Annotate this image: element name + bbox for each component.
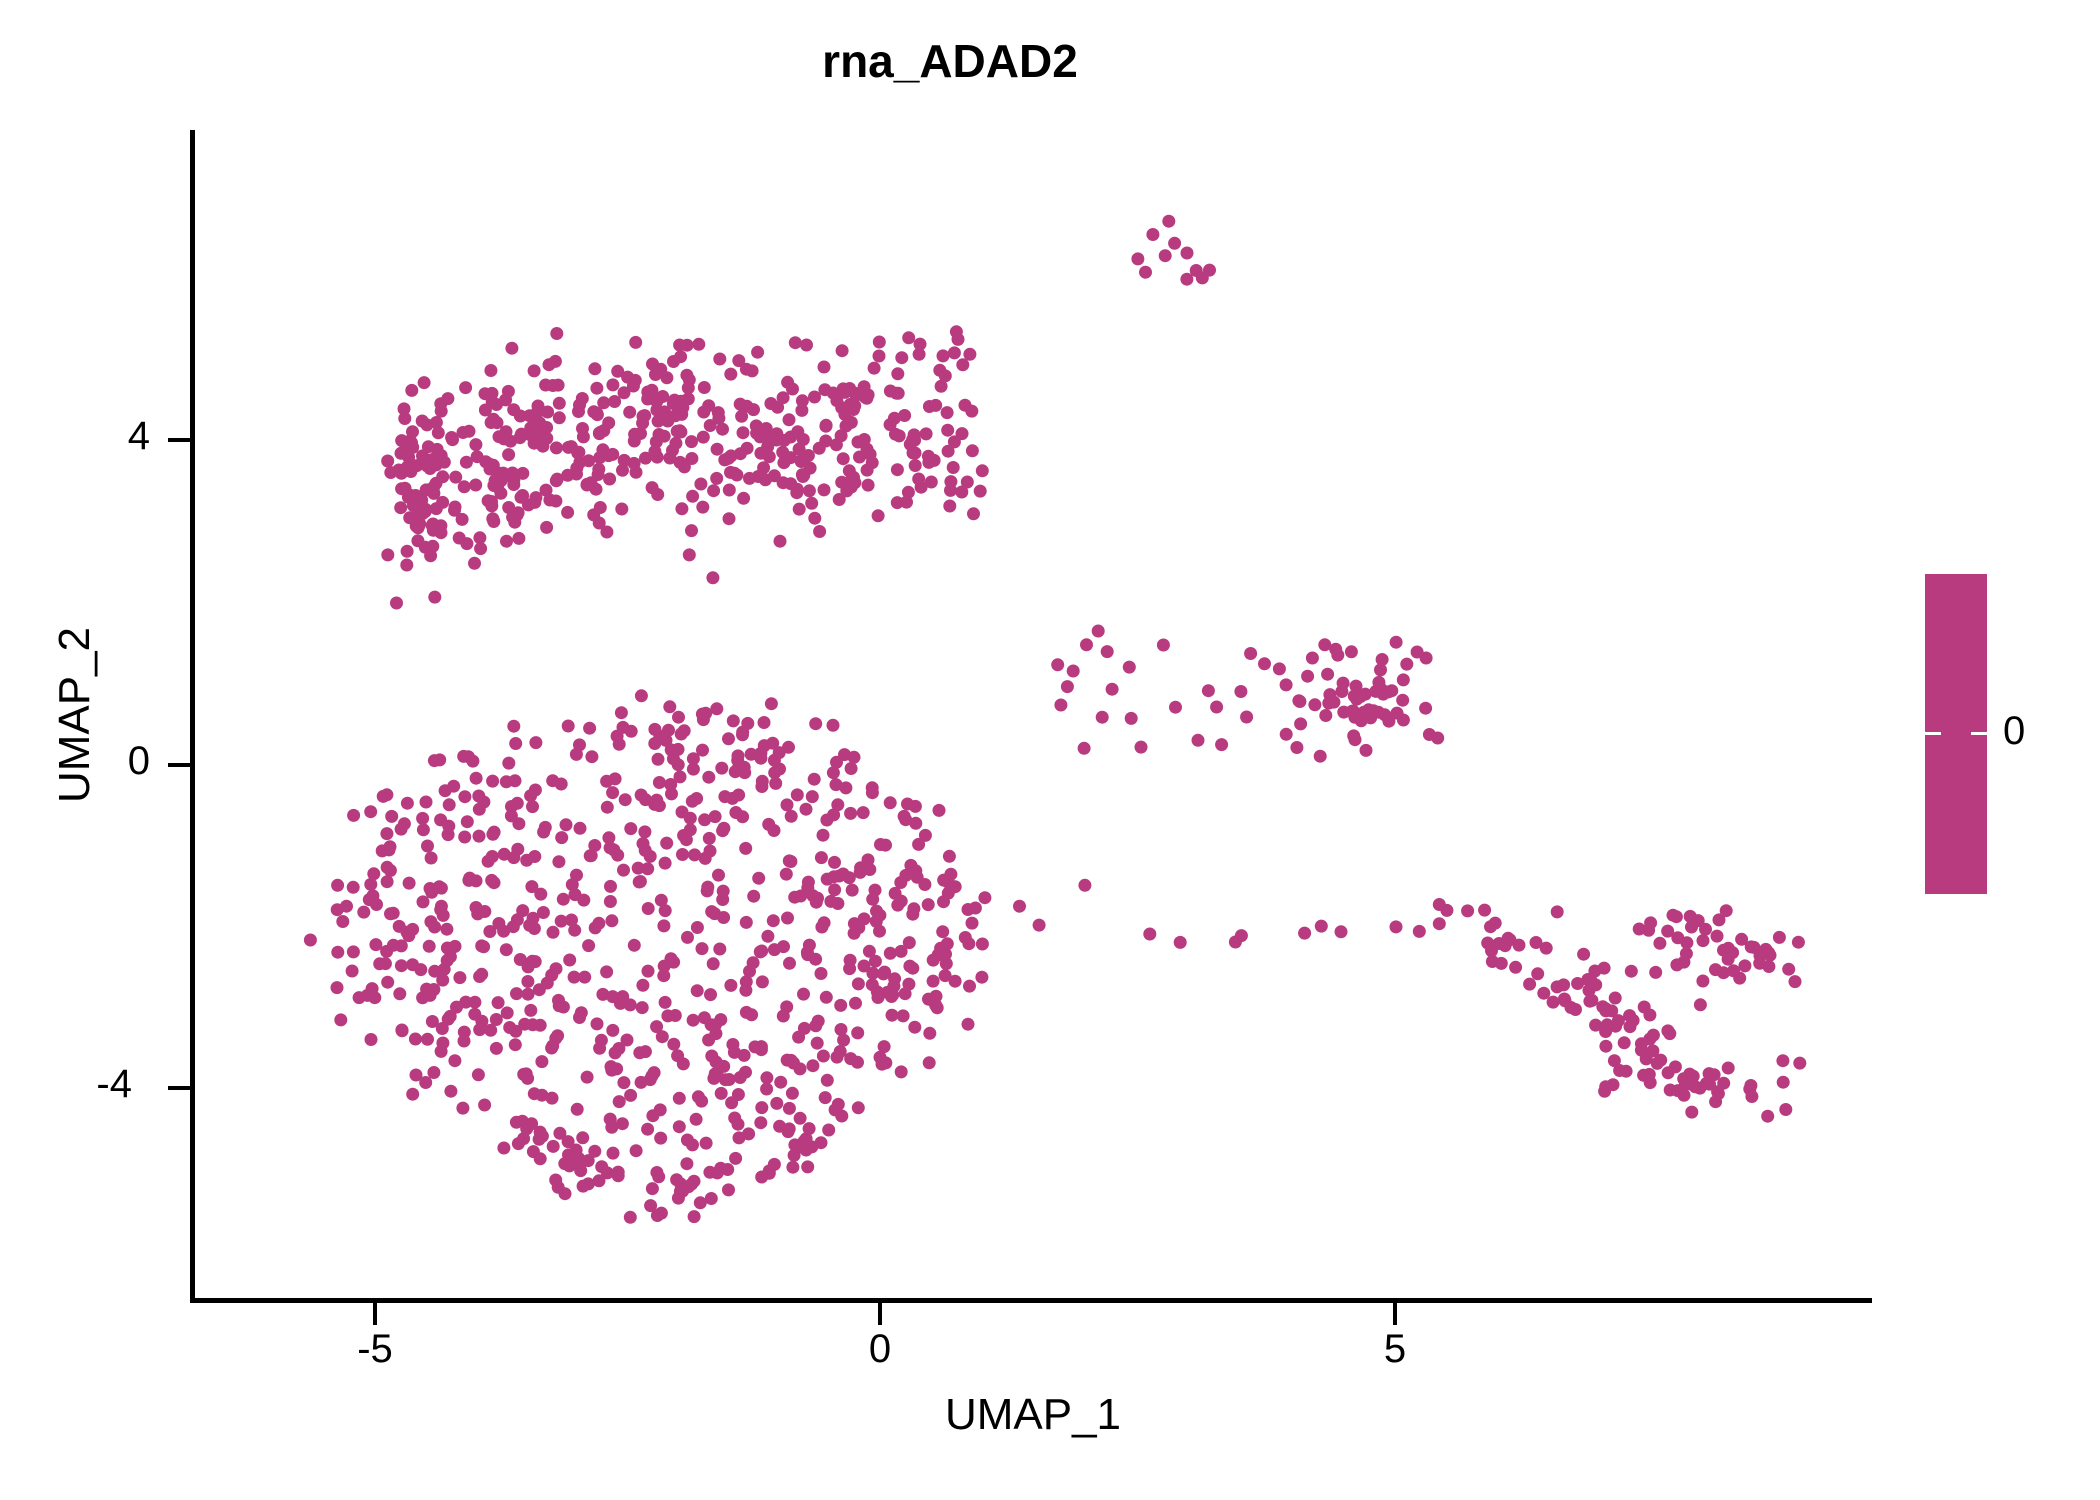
scatter-point bbox=[863, 863, 876, 876]
scatter-point bbox=[604, 880, 617, 893]
scatter-point bbox=[706, 571, 719, 584]
scatter-point bbox=[395, 939, 408, 952]
scatter-point bbox=[756, 775, 769, 788]
scatter-point bbox=[458, 831, 471, 844]
scatter-point bbox=[886, 1009, 899, 1022]
scatter-point bbox=[1321, 668, 1334, 681]
scatter-point bbox=[521, 975, 534, 988]
scatter-point bbox=[517, 1068, 530, 1081]
scatter-point bbox=[515, 428, 528, 441]
scatter-point bbox=[949, 975, 962, 988]
scatter-point bbox=[347, 945, 360, 958]
scatter-point bbox=[1779, 1103, 1792, 1116]
scatter-point bbox=[639, 793, 652, 806]
scatter-point bbox=[524, 789, 537, 802]
scatter-point bbox=[682, 381, 695, 394]
scatter-point bbox=[710, 472, 723, 485]
scatter-point bbox=[510, 987, 523, 1000]
scatter-point bbox=[502, 385, 515, 398]
scatter-point bbox=[895, 1065, 908, 1078]
scatter-point bbox=[412, 521, 425, 534]
scatter-point bbox=[468, 557, 481, 570]
scatter-point bbox=[470, 772, 483, 785]
scatter-point bbox=[780, 868, 793, 881]
scatter-point bbox=[605, 1064, 618, 1077]
scatter-point bbox=[394, 501, 407, 514]
scatter-point bbox=[638, 409, 651, 422]
scatter-point bbox=[600, 526, 613, 539]
scatter-point bbox=[606, 378, 619, 391]
scatter-point bbox=[1486, 955, 1499, 968]
scatter-point bbox=[796, 468, 809, 481]
scatter-point bbox=[702, 771, 715, 784]
scatter-point bbox=[685, 524, 698, 537]
x-tick-mark-5 bbox=[1393, 1303, 1397, 1325]
scatter-point bbox=[593, 451, 606, 464]
scatter-point bbox=[434, 397, 447, 410]
scatter-point bbox=[898, 810, 911, 823]
scatter-point bbox=[783, 413, 796, 426]
scatter-point bbox=[537, 826, 550, 839]
scatter-point bbox=[538, 427, 551, 440]
scatter-point bbox=[1547, 996, 1560, 1009]
scatter-point bbox=[416, 415, 429, 428]
scatter-point bbox=[398, 817, 411, 830]
scatter-point bbox=[596, 988, 609, 1001]
scatter-point bbox=[591, 1017, 604, 1030]
scatter-point bbox=[1240, 711, 1253, 724]
scatter-point bbox=[836, 344, 849, 357]
scatter-point bbox=[829, 1103, 842, 1116]
scatter-point bbox=[487, 479, 500, 492]
scatter-point bbox=[862, 388, 875, 401]
scatter-point bbox=[870, 905, 883, 918]
scatter-point bbox=[645, 1070, 658, 1083]
scatter-point bbox=[663, 700, 676, 713]
scatter-point bbox=[629, 374, 642, 387]
scatter-point bbox=[919, 829, 932, 842]
scatter-point bbox=[1694, 998, 1707, 1011]
scatter-point bbox=[828, 856, 841, 869]
scatter-point bbox=[1661, 1024, 1674, 1037]
scatter-point bbox=[1280, 728, 1293, 741]
scatter-point bbox=[1061, 680, 1074, 693]
scatter-point bbox=[1174, 936, 1187, 949]
scatter-point bbox=[739, 842, 752, 855]
scatter-point bbox=[754, 1116, 767, 1129]
scatter-point bbox=[857, 806, 870, 819]
scatter-point bbox=[787, 1057, 800, 1070]
scatter-point bbox=[895, 895, 908, 908]
scatter-point bbox=[852, 977, 865, 990]
scatter-point bbox=[717, 885, 730, 898]
scatter-point bbox=[684, 823, 697, 836]
scatter-point bbox=[459, 381, 472, 394]
scatter-point bbox=[419, 1076, 432, 1089]
scatter-point bbox=[928, 454, 941, 467]
scatter-point bbox=[366, 889, 379, 902]
scatter-point bbox=[446, 433, 459, 446]
scatter-point bbox=[835, 429, 848, 442]
colorbar-label-0: 0 bbox=[2003, 709, 2025, 754]
scatter-point bbox=[650, 404, 663, 417]
scatter-point bbox=[918, 878, 931, 891]
scatter-point bbox=[818, 361, 831, 374]
scatter-point bbox=[385, 810, 398, 823]
scatter-point bbox=[949, 880, 962, 893]
scatter-point bbox=[633, 1046, 646, 1059]
scatter-point bbox=[685, 452, 698, 465]
scatter-point bbox=[488, 826, 501, 839]
scatter-point bbox=[1703, 1067, 1716, 1080]
scatter-point bbox=[831, 897, 844, 910]
scatter-point bbox=[671, 1049, 684, 1062]
scatter-point bbox=[424, 915, 437, 928]
scatter-point bbox=[522, 960, 535, 973]
scatter-point bbox=[738, 1049, 751, 1062]
scatter-point bbox=[435, 1045, 448, 1058]
x-tick-label-0: 0 bbox=[820, 1327, 940, 1372]
scatter-point bbox=[806, 1059, 819, 1072]
scatter-point bbox=[550, 962, 563, 975]
scatter-point bbox=[754, 447, 767, 460]
scatter-point bbox=[646, 1182, 659, 1195]
scatter-point bbox=[704, 988, 717, 1001]
scatter-point bbox=[948, 346, 961, 359]
scatter-point bbox=[672, 758, 685, 771]
scatter-point bbox=[1642, 924, 1655, 937]
scatter-point bbox=[393, 987, 406, 1000]
scatter-point bbox=[1523, 978, 1536, 991]
scatter-point bbox=[633, 876, 646, 889]
scatter-point bbox=[671, 425, 684, 438]
scatter-point bbox=[1382, 685, 1395, 698]
scatter-point bbox=[732, 354, 745, 367]
scatter-point bbox=[526, 800, 539, 813]
x-tick-label-5: 5 bbox=[1335, 1327, 1455, 1372]
scatter-point bbox=[788, 891, 801, 904]
scatter-point bbox=[1713, 913, 1726, 926]
scatter-point bbox=[763, 1164, 776, 1177]
scatter-point bbox=[862, 479, 875, 492]
scatter-point bbox=[704, 419, 717, 432]
scatter-point bbox=[776, 446, 789, 459]
scatter-point bbox=[621, 1034, 634, 1047]
scatter-point bbox=[700, 1137, 713, 1150]
scatter-point bbox=[962, 937, 975, 950]
scatter-point bbox=[654, 1132, 667, 1145]
scatter-point bbox=[785, 810, 798, 823]
scatter-point bbox=[416, 991, 429, 1004]
scatter-point bbox=[713, 943, 726, 956]
scatter-point bbox=[1738, 959, 1751, 972]
scatter-point bbox=[899, 987, 912, 1000]
scatter-point bbox=[1481, 937, 1494, 950]
scatter-point bbox=[822, 1124, 835, 1137]
scatter-point bbox=[955, 486, 968, 499]
scatter-point bbox=[1502, 932, 1515, 945]
scatter-point bbox=[409, 1033, 422, 1046]
scatter-point bbox=[827, 766, 840, 779]
scatter-point bbox=[1762, 960, 1775, 973]
scatter-point bbox=[357, 906, 370, 919]
scatter-point bbox=[533, 1133, 546, 1146]
scatter-point bbox=[426, 540, 439, 553]
scatter-point bbox=[417, 823, 430, 836]
scatter-point bbox=[509, 737, 522, 750]
scatter-point bbox=[1335, 925, 1348, 938]
scatter-point bbox=[817, 1050, 830, 1063]
scatter-point bbox=[843, 962, 856, 975]
scatter-point bbox=[687, 1014, 700, 1027]
scatter-point bbox=[1433, 917, 1446, 930]
scatter-point bbox=[524, 1004, 537, 1017]
scatter-point bbox=[1792, 936, 1805, 949]
scatter-point bbox=[1202, 684, 1215, 697]
scatter-point bbox=[648, 737, 661, 750]
scatter-point bbox=[798, 1022, 811, 1035]
scatter-point bbox=[809, 717, 822, 730]
scatter-point bbox=[588, 839, 601, 852]
scatter-point bbox=[422, 440, 435, 453]
scatter-point bbox=[909, 800, 922, 813]
scatter-point bbox=[690, 1113, 703, 1126]
scatter-point bbox=[1078, 879, 1091, 892]
scatter-point bbox=[553, 397, 566, 410]
scatter-point bbox=[674, 456, 687, 469]
scatter-point bbox=[697, 431, 710, 444]
scatter-point bbox=[696, 501, 709, 514]
scatter-point bbox=[381, 548, 394, 561]
scatter-point bbox=[943, 500, 956, 513]
scatter-point bbox=[819, 1091, 832, 1104]
scatter-point bbox=[681, 1134, 694, 1147]
scatter-point bbox=[600, 775, 613, 788]
scatter-point bbox=[1315, 920, 1328, 933]
scatter-point bbox=[1696, 975, 1709, 988]
scatter-point bbox=[1589, 1019, 1602, 1032]
scatter-point bbox=[652, 1170, 665, 1183]
y-tick-mark-0 bbox=[168, 763, 190, 767]
scatter-point bbox=[440, 923, 453, 936]
scatter-point bbox=[405, 384, 418, 397]
scatter-point bbox=[1123, 661, 1136, 674]
scatter-point bbox=[630, 466, 643, 479]
scatter-point bbox=[436, 470, 449, 483]
scatter-point bbox=[1096, 711, 1109, 724]
scatter-point bbox=[604, 841, 617, 854]
scatter-point bbox=[852, 1101, 865, 1114]
scatter-point bbox=[419, 505, 432, 518]
scatter-point bbox=[685, 435, 698, 448]
scatter-point bbox=[1484, 920, 1497, 933]
scatter-point bbox=[612, 1169, 625, 1182]
scatter-point bbox=[1294, 717, 1307, 730]
scatter-point bbox=[425, 852, 438, 865]
scatter-point bbox=[1667, 909, 1680, 922]
scatter-point bbox=[747, 403, 760, 416]
scatter-point bbox=[676, 806, 689, 819]
scatter-point bbox=[1374, 663, 1387, 676]
scatter-point bbox=[815, 1136, 828, 1149]
scatter-point bbox=[507, 403, 520, 416]
scatter-point bbox=[1653, 937, 1666, 950]
scatter-point bbox=[624, 822, 637, 835]
scatter-point bbox=[507, 720, 520, 733]
scatter-point bbox=[1092, 625, 1105, 638]
scatter-point bbox=[423, 940, 436, 953]
scatter-point bbox=[1640, 1052, 1653, 1065]
scatter-point bbox=[1235, 929, 1248, 942]
scatter-point bbox=[497, 1142, 510, 1155]
scatter-point bbox=[1210, 701, 1223, 714]
scatter-point bbox=[527, 912, 540, 925]
scatter-point bbox=[665, 787, 678, 800]
scatter-point bbox=[457, 750, 470, 763]
scatter-point bbox=[686, 490, 699, 503]
scatter-point bbox=[1319, 709, 1332, 722]
scatter-point bbox=[1727, 964, 1740, 977]
scatter-point bbox=[709, 1018, 722, 1031]
scatter-point bbox=[800, 803, 813, 816]
scatter-point bbox=[895, 351, 908, 364]
scatter-point bbox=[534, 1152, 547, 1165]
scatter-point bbox=[406, 958, 419, 971]
scatter-point bbox=[1159, 249, 1172, 262]
scatter-point bbox=[490, 1042, 503, 1055]
scatter-point bbox=[692, 338, 705, 351]
scatter-point bbox=[891, 367, 904, 380]
scatter-point bbox=[722, 452, 735, 465]
scatter-point bbox=[745, 748, 758, 761]
scatter-point bbox=[550, 327, 563, 340]
scatter-point bbox=[540, 521, 553, 534]
scatter-point bbox=[1360, 744, 1373, 757]
scatter-point bbox=[486, 775, 499, 788]
scatter-point bbox=[866, 786, 879, 799]
scatter-point bbox=[460, 537, 473, 550]
scatter-point bbox=[819, 420, 832, 433]
umap-feature-plot: rna_ADAD2 4 0 -4 -5 0 5 UMAP_1 UMAP_2 0 bbox=[0, 0, 2100, 1500]
scatter-point bbox=[871, 985, 884, 998]
scatter-point bbox=[570, 869, 583, 882]
scatter-point bbox=[1647, 1029, 1660, 1042]
scatter-point bbox=[898, 409, 911, 422]
scatter-point bbox=[966, 444, 979, 457]
scatter-point bbox=[629, 336, 642, 349]
scatter-point bbox=[528, 1087, 541, 1100]
scatter-point bbox=[1308, 698, 1321, 711]
scatter-point bbox=[866, 967, 879, 980]
scatter-point bbox=[448, 504, 461, 517]
scatter-point bbox=[885, 990, 898, 1003]
scatter-point bbox=[937, 349, 950, 362]
scatter-point bbox=[1314, 750, 1327, 763]
scatter-point bbox=[976, 938, 989, 951]
scatter-point bbox=[1139, 266, 1152, 279]
scatter-point bbox=[907, 446, 920, 459]
scatter-point bbox=[1181, 247, 1194, 260]
scatter-point bbox=[866, 893, 879, 906]
scatter-point bbox=[1051, 658, 1064, 671]
scatter-point bbox=[590, 483, 603, 496]
scatter-point bbox=[384, 864, 397, 877]
scatter-point bbox=[1609, 992, 1622, 1005]
scatter-point bbox=[906, 908, 919, 921]
scatter-point bbox=[963, 348, 976, 361]
scatter-point bbox=[1598, 962, 1611, 975]
scatter-point bbox=[520, 854, 533, 867]
scatter-point bbox=[1135, 741, 1148, 754]
scatter-point bbox=[927, 954, 940, 967]
scatter-point bbox=[723, 484, 736, 497]
scatter-point bbox=[691, 984, 704, 997]
scatter-point bbox=[669, 1009, 682, 1022]
scatter-point bbox=[1754, 949, 1767, 962]
scatter-point bbox=[606, 786, 619, 799]
scatter-point bbox=[651, 488, 664, 501]
scatter-point bbox=[705, 905, 718, 918]
scatter-point bbox=[1664, 1084, 1677, 1097]
scatter-point bbox=[611, 365, 624, 378]
scatter-point bbox=[390, 597, 403, 610]
scatter-point bbox=[1372, 676, 1385, 689]
scatter-point bbox=[395, 467, 408, 480]
scatter-point bbox=[331, 879, 344, 892]
scatter-point bbox=[801, 1160, 814, 1173]
scatter-point bbox=[783, 957, 796, 970]
scatter-point bbox=[573, 1157, 586, 1170]
scatter-point bbox=[635, 1076, 648, 1089]
scatter-point bbox=[490, 1013, 503, 1026]
scatter-point bbox=[1345, 645, 1358, 658]
scatter-point bbox=[1689, 1080, 1702, 1093]
scatter-point bbox=[1585, 994, 1598, 1007]
scatter-point bbox=[868, 362, 881, 375]
scatter-point bbox=[966, 917, 979, 930]
scatter-point bbox=[818, 916, 831, 929]
scatter-point bbox=[657, 919, 670, 932]
scatter-point bbox=[1078, 742, 1091, 755]
scatter-point bbox=[547, 1140, 560, 1153]
scatter-point bbox=[849, 997, 862, 1010]
scatter-point bbox=[510, 1116, 523, 1129]
scatter-point bbox=[401, 926, 414, 939]
scatter-point bbox=[1125, 712, 1138, 725]
scatter-point bbox=[874, 838, 887, 851]
scatter-point bbox=[803, 1122, 816, 1135]
scatter-point bbox=[969, 902, 982, 915]
scatter-point bbox=[383, 843, 396, 856]
scatter-point bbox=[1699, 923, 1712, 936]
scatter-point bbox=[1331, 649, 1344, 662]
scatter-point bbox=[628, 428, 641, 441]
scatter-point bbox=[1722, 1062, 1735, 1075]
scatter-point bbox=[1290, 741, 1303, 754]
scatter-point bbox=[821, 1074, 834, 1087]
scatter-point bbox=[704, 845, 717, 858]
scatter-point bbox=[421, 840, 434, 853]
scatter-point bbox=[529, 736, 542, 749]
scatter-point bbox=[649, 368, 662, 381]
scatter-point bbox=[833, 493, 846, 506]
scatter-point bbox=[617, 864, 630, 877]
scatter-point bbox=[468, 996, 481, 1009]
scatter-point bbox=[673, 1092, 686, 1105]
scatter-point bbox=[502, 757, 515, 770]
scatter-point bbox=[815, 967, 828, 980]
scatter-point bbox=[500, 775, 513, 788]
